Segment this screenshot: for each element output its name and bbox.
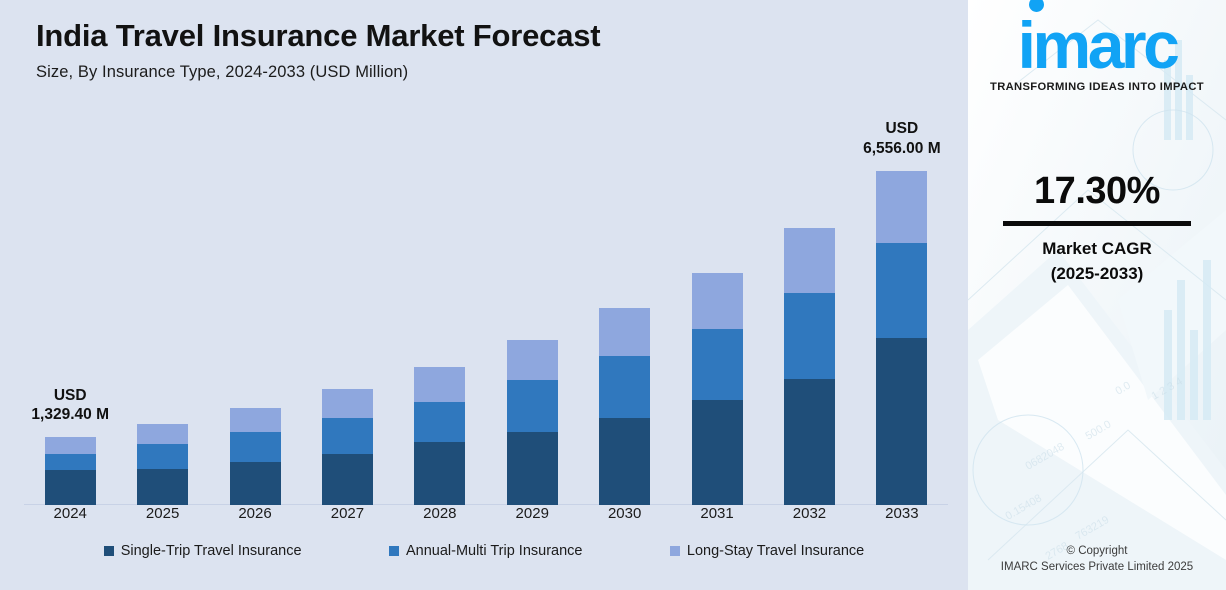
stacked-bar[interactable] — [137, 424, 188, 505]
bar-segment-long-stay-travel-insurance[interactable] — [45, 437, 96, 454]
x-axis: 2024202520262027202820292030203120322033 — [24, 505, 948, 522]
bar-segment-annual-multi-trip-insurance[interactable] — [507, 380, 558, 432]
bar-segment-annual-multi-trip-insurance[interactable] — [876, 243, 927, 338]
stacked-bar[interactable] — [784, 228, 835, 505]
cagr-block: 17.30% Market CAGR (2025-2033) — [968, 170, 1226, 287]
logo-tagline: TRANSFORMING IDEAS INTO IMPACT — [990, 81, 1204, 93]
x-axis-tick-2032: 2032 — [763, 505, 855, 522]
legend-label: Single-Trip Travel Insurance — [121, 543, 302, 559]
bar-group-2032[interactable] — [763, 100, 855, 505]
bar-segment-annual-multi-trip-insurance[interactable] — [230, 432, 281, 462]
chart-infographic: India Travel Insurance Market Forecast S… — [0, 0, 1226, 590]
x-axis-tick-2029: 2029 — [486, 505, 578, 522]
bar-segment-long-stay-travel-insurance[interactable] — [599, 308, 650, 356]
brand-content: imarc TRANSFORMING IDEAS INTO IMPACT 17.… — [968, 0, 1226, 590]
bar-series-container: USD1,329.40 MUSD6,556.00 M — [24, 100, 948, 505]
x-axis-tick-2031: 2031 — [671, 505, 763, 522]
bar-segment-single-trip-travel-insurance[interactable] — [784, 379, 835, 505]
bar-group-2026[interactable] — [209, 100, 301, 505]
bar-group-2025[interactable] — [116, 100, 208, 505]
bar-group-2031[interactable] — [671, 100, 763, 505]
stacked-bar[interactable] — [230, 408, 281, 505]
bar-value-label-currency: USD — [31, 386, 109, 406]
stacked-bar[interactable] — [876, 171, 927, 505]
brand-panel: 0.0 1 2 3 4 500.0 0682048 0.15408 2768 7… — [968, 0, 1226, 590]
bar-segment-long-stay-travel-insurance[interactable] — [876, 171, 927, 243]
bar-segment-long-stay-travel-insurance[interactable] — [322, 389, 373, 418]
x-axis-tick-2026: 2026 — [209, 505, 301, 522]
plot-area: USD1,329.40 MUSD6,556.00 M — [0, 100, 968, 505]
copyright-line1: © Copyright — [968, 543, 1226, 560]
stacked-bar[interactable] — [322, 389, 373, 505]
bar-segment-single-trip-travel-insurance[interactable] — [45, 470, 96, 505]
chart-header: India Travel Insurance Market Forecast S… — [0, 0, 968, 82]
bar-segment-long-stay-travel-insurance[interactable] — [230, 408, 281, 432]
bar-value-label-amount: 6,556.00 M — [863, 139, 941, 159]
legend-item-annual-multi-trip-insurance[interactable]: Annual-Multi Trip Insurance — [389, 543, 583, 559]
legend-item-long-stay-travel-insurance[interactable]: Long-Stay Travel Insurance — [670, 543, 864, 559]
logo-word-text: imarc — [1018, 8, 1177, 82]
bar-segment-annual-multi-trip-insurance[interactable] — [45, 454, 96, 470]
bar-value-label-currency: USD — [863, 119, 941, 139]
bar-value-label-amount: 1,329.40 M — [31, 405, 109, 425]
bar-group-2024[interactable]: USD1,329.40 M — [24, 100, 116, 505]
bar-segment-annual-multi-trip-insurance[interactable] — [414, 402, 465, 442]
bar-segment-long-stay-travel-insurance[interactable] — [784, 228, 835, 293]
bar-value-label-2024: USD1,329.40 M — [31, 386, 109, 426]
x-axis-tick-2024: 2024 — [24, 505, 116, 522]
cagr-divider — [1003, 221, 1191, 226]
legend-swatch-icon — [104, 546, 114, 556]
cagr-label-line1: Market CAGR — [968, 236, 1226, 262]
chart-panel: India Travel Insurance Market Forecast S… — [0, 0, 968, 590]
stacked-bar[interactable] — [507, 340, 558, 505]
legend-item-single-trip-travel-insurance[interactable]: Single-Trip Travel Insurance — [104, 543, 302, 559]
legend-label: Long-Stay Travel Insurance — [687, 543, 864, 559]
x-axis-tick-2030: 2030 — [578, 505, 670, 522]
bar-segment-long-stay-travel-insurance[interactable] — [692, 273, 743, 329]
bar-group-2033[interactable]: USD6,556.00 M — [856, 100, 948, 505]
x-axis-tick-2028: 2028 — [394, 505, 486, 522]
bar-segment-single-trip-travel-insurance[interactable] — [507, 432, 558, 505]
bar-segment-single-trip-travel-insurance[interactable] — [322, 454, 373, 505]
chart-title: India Travel Insurance Market Forecast — [36, 18, 968, 54]
cagr-label-line2: (2025-2033) — [968, 261, 1226, 287]
legend-swatch-icon — [670, 546, 680, 556]
x-axis-tick-2025: 2025 — [116, 505, 208, 522]
logo-wordmark: imarc — [1018, 14, 1177, 77]
bar-segment-single-trip-travel-insurance[interactable] — [692, 400, 743, 505]
stacked-bar[interactable] — [692, 273, 743, 505]
legend-label: Annual-Multi Trip Insurance — [406, 543, 583, 559]
bar-segment-annual-multi-trip-insurance[interactable] — [692, 329, 743, 400]
bar-segment-single-trip-travel-insurance[interactable] — [876, 338, 927, 505]
chart-subtitle: Size, By Insurance Type, 2024-2033 (USD … — [36, 63, 968, 82]
bar-group-2028[interactable] — [394, 100, 486, 505]
cagr-value: 17.30% — [968, 170, 1226, 213]
imarc-logo: imarc TRANSFORMING IDEAS INTO IMPACT — [990, 14, 1204, 93]
bar-segment-long-stay-travel-insurance[interactable] — [507, 340, 558, 380]
x-axis-tick-2027: 2027 — [301, 505, 393, 522]
stacked-bar[interactable] — [45, 437, 96, 505]
copyright-notice: © Copyright IMARC Services Private Limit… — [968, 543, 1226, 576]
bar-segment-single-trip-travel-insurance[interactable] — [230, 462, 281, 505]
bar-value-label-2033: USD6,556.00 M — [863, 119, 941, 159]
stacked-bar[interactable] — [599, 308, 650, 505]
bar-segment-annual-multi-trip-insurance[interactable] — [784, 293, 835, 379]
bar-segment-long-stay-travel-insurance[interactable] — [137, 424, 188, 444]
x-axis-tick-2033: 2033 — [856, 505, 948, 522]
bar-group-2027[interactable] — [301, 100, 393, 505]
bar-segment-single-trip-travel-insurance[interactable] — [599, 418, 650, 505]
bar-segment-annual-multi-trip-insurance[interactable] — [599, 356, 650, 418]
chart-legend: Single-Trip Travel InsuranceAnnual-Multi… — [0, 543, 968, 559]
bar-segment-single-trip-travel-insurance[interactable] — [414, 442, 465, 505]
bar-segment-single-trip-travel-insurance[interactable] — [137, 469, 188, 505]
copyright-line2: IMARC Services Private Limited 2025 — [968, 559, 1226, 576]
bar-segment-annual-multi-trip-insurance[interactable] — [137, 444, 188, 469]
bar-group-2030[interactable] — [578, 100, 670, 505]
stacked-bar[interactable] — [414, 367, 465, 505]
bar-group-2029[interactable] — [486, 100, 578, 505]
bar-segment-annual-multi-trip-insurance[interactable] — [322, 418, 373, 454]
bar-segment-long-stay-travel-insurance[interactable] — [414, 367, 465, 402]
legend-swatch-icon — [389, 546, 399, 556]
